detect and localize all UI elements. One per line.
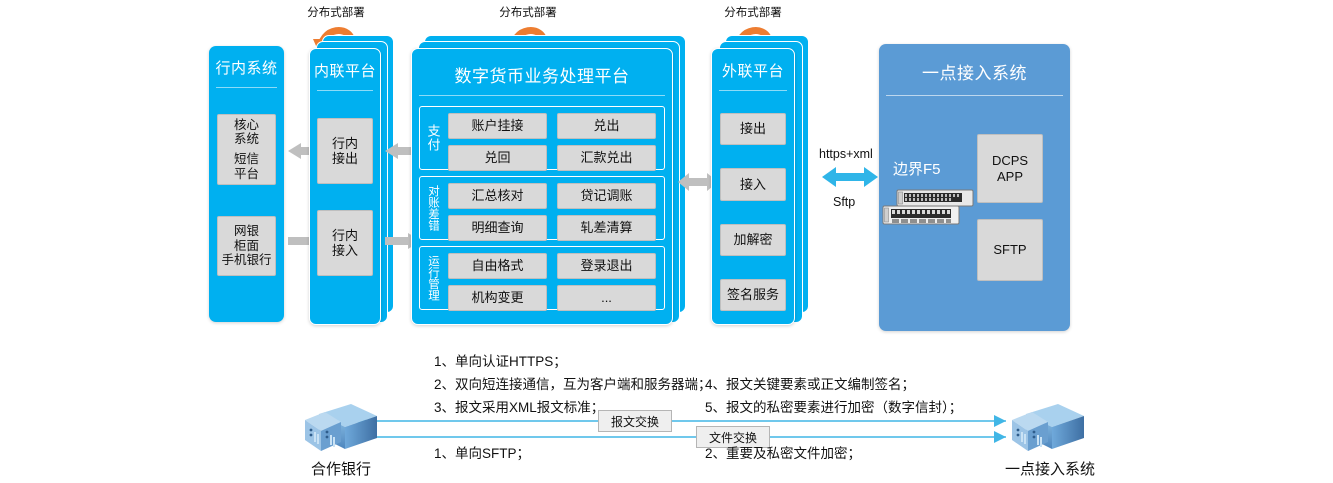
panel-access-system-title: 一点接入系统 [879, 59, 1070, 84]
dcep-item-payment-2[interactable]: 兑回 [448, 145, 547, 171]
endpoint-label-access-system: 一点接入系统 [987, 458, 1113, 479]
intranet-box-core-sms[interactable]: 核心 系统 短信 平台 [217, 114, 276, 185]
intranet-ebank-line3: 手机银行 [221, 253, 271, 268]
internal-in-line2: 接入 [332, 243, 358, 258]
note-bottom-left: 1、单向SFTP； [434, 444, 530, 464]
panel-internal-platform-title: 内联平台 [310, 60, 380, 81]
access-box-sftp[interactable]: SFTP [977, 219, 1043, 281]
intranet-core-line2: 系统 [234, 132, 259, 147]
panel-external-platform-title: 外联平台 [712, 60, 794, 81]
link-label-sftp: Sftp [833, 195, 855, 209]
intranet-ebank-line2: 柜面 [221, 239, 271, 254]
exchange-label-message: 报文交换 [598, 410, 672, 432]
note-left-1: 1、单向认证HTTPS； [434, 352, 567, 372]
intranet-core-line4: 短信 [234, 152, 259, 167]
internal-box-in[interactable]: 行内 接入 [317, 210, 373, 276]
note-bottom-right: 2、重要及私密文件加密； [705, 444, 861, 464]
dcep-group-operations[interactable]: 运行管理 自由格式 登录退出 机构变更 ... [419, 246, 665, 310]
dcep-item-reconciliation-3[interactable]: 轧差清算 [557, 215, 656, 241]
dcep-item-reconciliation-1[interactable]: 贷记调账 [557, 183, 656, 209]
dcep-item-payment-1[interactable]: 兑出 [557, 113, 656, 139]
access-dcps-line1: DCPS [992, 153, 1028, 168]
panel-internal-platform[interactable]: 内联平台 [309, 48, 381, 325]
access-box-dcps-app[interactable]: DCPS APP [977, 134, 1043, 203]
internal-out-line1: 行内 [332, 136, 358, 151]
external-box-out[interactable]: 接出 [720, 113, 786, 145]
dcep-group-payment-label: 支付 [420, 107, 446, 169]
access-dcps-line2: APP [992, 169, 1028, 184]
external-box-crypto[interactable]: 加解密 [720, 224, 786, 256]
dcep-item-reconciliation-2[interactable]: 明细查询 [448, 215, 547, 241]
panel-dcep-platform-title: 数字货币业务处理平台 [412, 62, 672, 87]
dcep-item-operations-2[interactable]: 机构变更 [448, 285, 547, 311]
server-icon-access-system [1008, 402, 1086, 452]
intranet-box-ebank-counter-mobile[interactable]: 网银 柜面 手机银行 [217, 216, 276, 276]
access-f5-label: 边界F5 [893, 158, 941, 179]
internal-out-line2: 接出 [332, 151, 358, 166]
internal-in-line1: 行内 [332, 228, 358, 243]
dcep-item-operations-1[interactable]: 登录退出 [557, 253, 656, 279]
dcep-group-payment[interactable]: 支付 账户挂接 兑出 兑回 汇款兑出 [419, 106, 665, 170]
dcep-item-payment-3[interactable]: 汇款兑出 [557, 145, 656, 171]
link-label-https-xml: https+xml [819, 147, 873, 161]
endpoint-label-partner-bank: 合作银行 [281, 458, 401, 479]
note-right-4: 4、报文关键要素或正文编制签名； [705, 375, 915, 395]
panel-intranet-system-title: 行内系统 [209, 57, 284, 78]
connector-file-exchange-line [340, 430, 1020, 444]
external-box-in[interactable]: 接入 [720, 168, 786, 201]
dcep-item-reconciliation-0[interactable]: 汇总核对 [448, 183, 547, 209]
internal-box-out[interactable]: 行内 接出 [317, 118, 373, 184]
external-box-signature[interactable]: 签名服务 [720, 279, 786, 311]
dcep-group-reconciliation-label: 对账差错 [420, 177, 446, 239]
note-left-2: 2、双向短连接通信，互为客户端和服务器端； [434, 375, 712, 395]
arrow-external-access-bidirectional-icon [822, 166, 878, 188]
intranet-core-line1: 核心 [234, 118, 259, 133]
dcep-item-operations-3[interactable]: ... [557, 285, 656, 311]
dcep-group-reconciliation[interactable]: 对账差错 汇总核对 贷记调账 明细查询 轧差清算 [419, 176, 665, 240]
dcep-item-payment-0[interactable]: 账户挂接 [448, 113, 547, 139]
intranet-core-line5: 平台 [234, 167, 259, 182]
dcep-group-operations-label: 运行管理 [420, 247, 446, 309]
dcep-item-operations-0[interactable]: 自由格式 [448, 253, 547, 279]
intranet-ebank-line1: 网银 [221, 224, 271, 239]
server-icon-partner-bank [301, 402, 379, 452]
network-switch-icon [873, 186, 983, 232]
connector-message-exchange-line [340, 414, 1020, 428]
